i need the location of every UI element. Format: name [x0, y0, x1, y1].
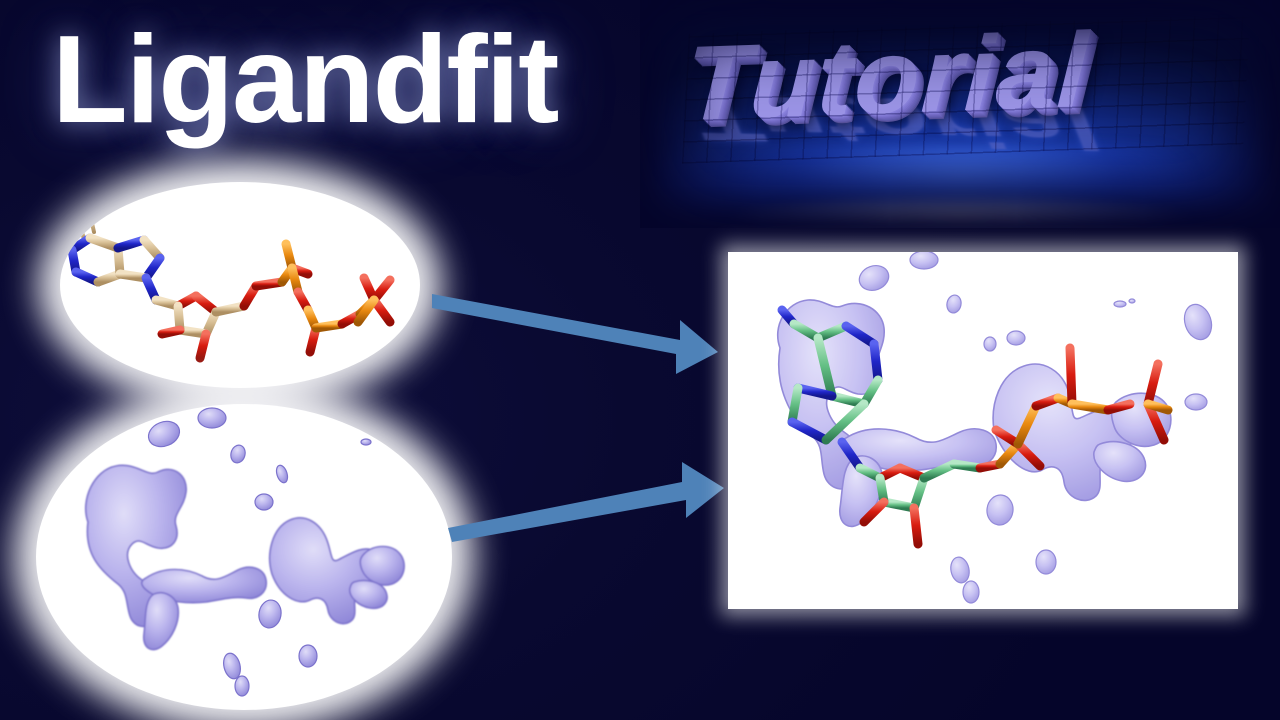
arrow-ligand-to-result	[430, 286, 720, 378]
arrow-density-to-result	[446, 452, 726, 544]
fitted-result-panel	[728, 252, 1238, 609]
ligand-structure-icon	[60, 182, 420, 388]
tutorial-banner: Tutorial Tutorial	[640, 0, 1280, 228]
banner-floor-highlight	[691, 190, 1229, 228]
page-title: Ligandfit	[52, 18, 557, 142]
banner-word: Tutorial	[683, 17, 1092, 137]
density-oval-clip	[36, 404, 452, 710]
ligand-oval-clip	[60, 182, 420, 388]
fitted-ligand-icon	[728, 252, 1238, 609]
density-oval-panel	[36, 404, 452, 710]
ligand-oval-panel	[60, 182, 420, 388]
electron-density-icon	[36, 404, 452, 710]
slide-canvas: Ligandfit Tutorial Tutorial	[0, 0, 1280, 720]
fitted-result-clip	[728, 252, 1238, 609]
